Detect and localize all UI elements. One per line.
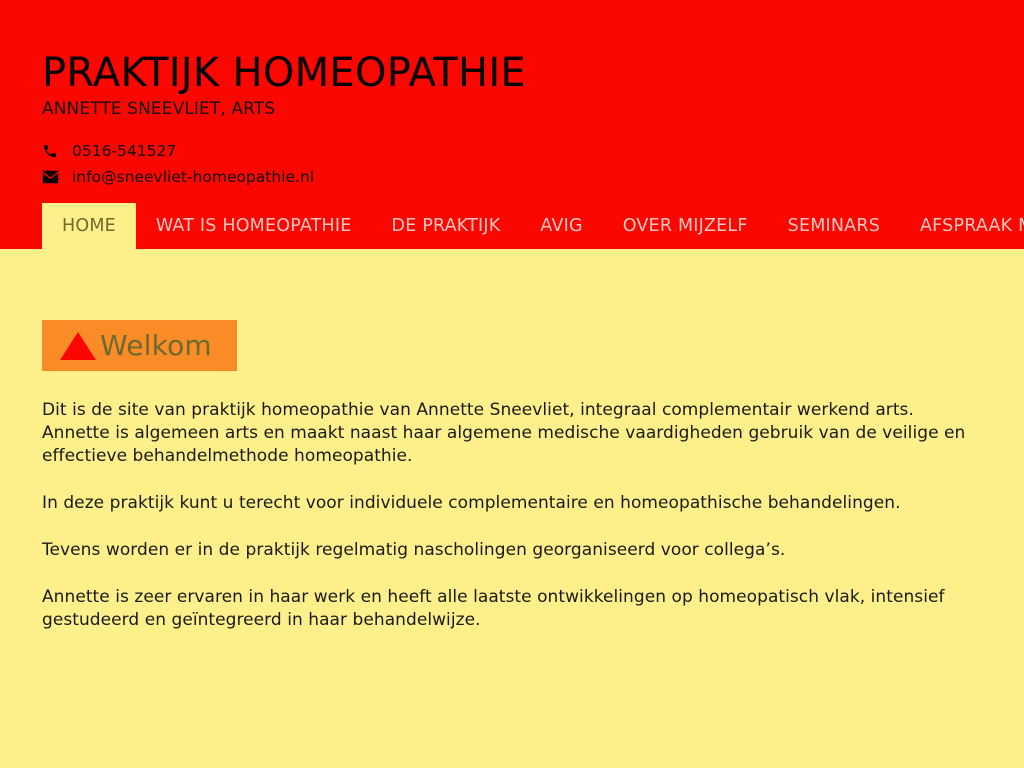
page-root: PRAKTIJK HOMEOPATHIE ANNETTE SNEEVLIET, … [0,0,1024,768]
triangle-icon [56,330,100,362]
nav-item-label: AFSPRAAK MAKEN [920,216,1024,236]
contact-phone-text: 0516-541527 [72,141,176,161]
paragraph-courses: Tevens worden er in de praktijk regelmat… [42,539,972,562]
welkom-title: Welkom [100,330,212,362]
phone-icon [42,143,72,159]
contact-email[interactable]: info@sneevliet-homeopathie.nl [42,164,314,190]
nav-item-label: HOME [62,216,116,236]
welkom-heading-box: Welkom [42,320,237,371]
body-copy: Dit is de site van praktijk homeopathie … [42,399,972,632]
contact-list: 0516-541527 info@sneevliet-homeopathie.n… [42,138,314,190]
nav-item-avig[interactable]: AVIG [520,203,602,249]
nav-item-label: SEMINARS [788,216,880,236]
nav-item-wat-is-homeopathie[interactable]: WAT IS HOMEOPATHIE [136,203,372,249]
site-header: PRAKTIJK HOMEOPATHIE ANNETTE SNEEVLIET, … [0,0,1024,249]
nav-item-label: WAT IS HOMEOPATHIE [156,216,352,236]
nav-item-label: DE PRAKTIJK [392,216,501,236]
paragraph-experience: Annette is zeer ervaren in haar werk en … [42,586,972,632]
nav-item-seminars[interactable]: SEMINARS [768,203,900,249]
main-navigation: HOME WAT IS HOMEOPATHIE DE PRAKTIJK AVIG… [42,203,1024,249]
paragraph-intro: Dit is de site van praktijk homeopathie … [42,399,972,468]
contact-email-text: info@sneevliet-homeopathie.nl [72,167,314,187]
paragraph-treatments: In deze praktijk kunt u terecht voor ind… [42,492,972,515]
nav-item-over-mijzelf[interactable]: OVER MIJZELF [603,203,768,249]
site-title: PRAKTIJK HOMEOPATHIE [42,50,526,96]
site-subtitle: ANNETTE SNEEVLIET, ARTS [42,98,275,120]
main-content: Welkom Dit is de site van praktijk homeo… [0,249,1024,768]
nav-item-home[interactable]: HOME [42,203,136,249]
nav-item-afspraak-maken[interactable]: AFSPRAAK MAKEN [900,203,1024,249]
envelope-icon [42,170,72,184]
nav-item-label: AVIG [540,216,582,236]
nav-item-label: OVER MIJZELF [623,216,748,236]
contact-phone[interactable]: 0516-541527 [42,138,314,164]
nav-item-de-praktijk[interactable]: DE PRAKTIJK [372,203,521,249]
